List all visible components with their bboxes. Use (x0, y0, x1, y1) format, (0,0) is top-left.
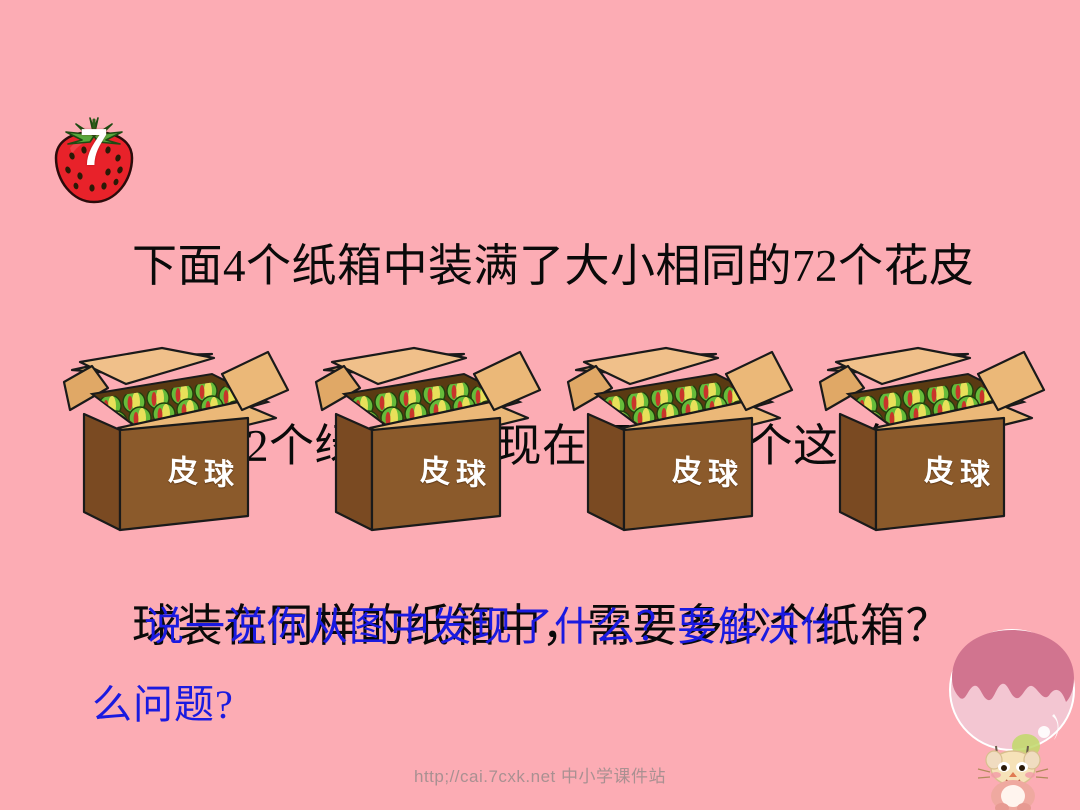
cardboard-box-icon (818, 344, 1048, 540)
question-line-2: 么问题? (92, 666, 992, 744)
slide-canvas: 7 下面4个纸箱中装满了大小相同的72个花皮 球和32个绿皮球。现在要把468个… (0, 0, 1080, 810)
question-line-1: 说一说你从图中发现了什么？要解决什 (92, 588, 992, 666)
cardboard-box-icon (566, 344, 796, 540)
cardboard-box-icon (62, 344, 292, 540)
ball-box-3: 皮球 (566, 344, 796, 540)
problem-line-1: 下面4个纸箱中装满了大小相同的72个花皮 (132, 236, 1044, 296)
strawberry-icon (46, 112, 142, 208)
ball-box-2: 皮球 (314, 344, 544, 540)
strawberry-marker: 7 (46, 112, 142, 208)
boxes-row: 皮球 (56, 344, 1056, 544)
ball-box-1: 皮球 (62, 344, 292, 540)
ball-box-4: 皮球 (818, 344, 1048, 540)
cardboard-box-icon (314, 344, 544, 540)
watermark: http;//cai.7cxk.net 中小学课件站 (0, 762, 1080, 787)
discussion-question: 说一说你从图中发现了什么？要解决什 么问题? (92, 588, 992, 744)
